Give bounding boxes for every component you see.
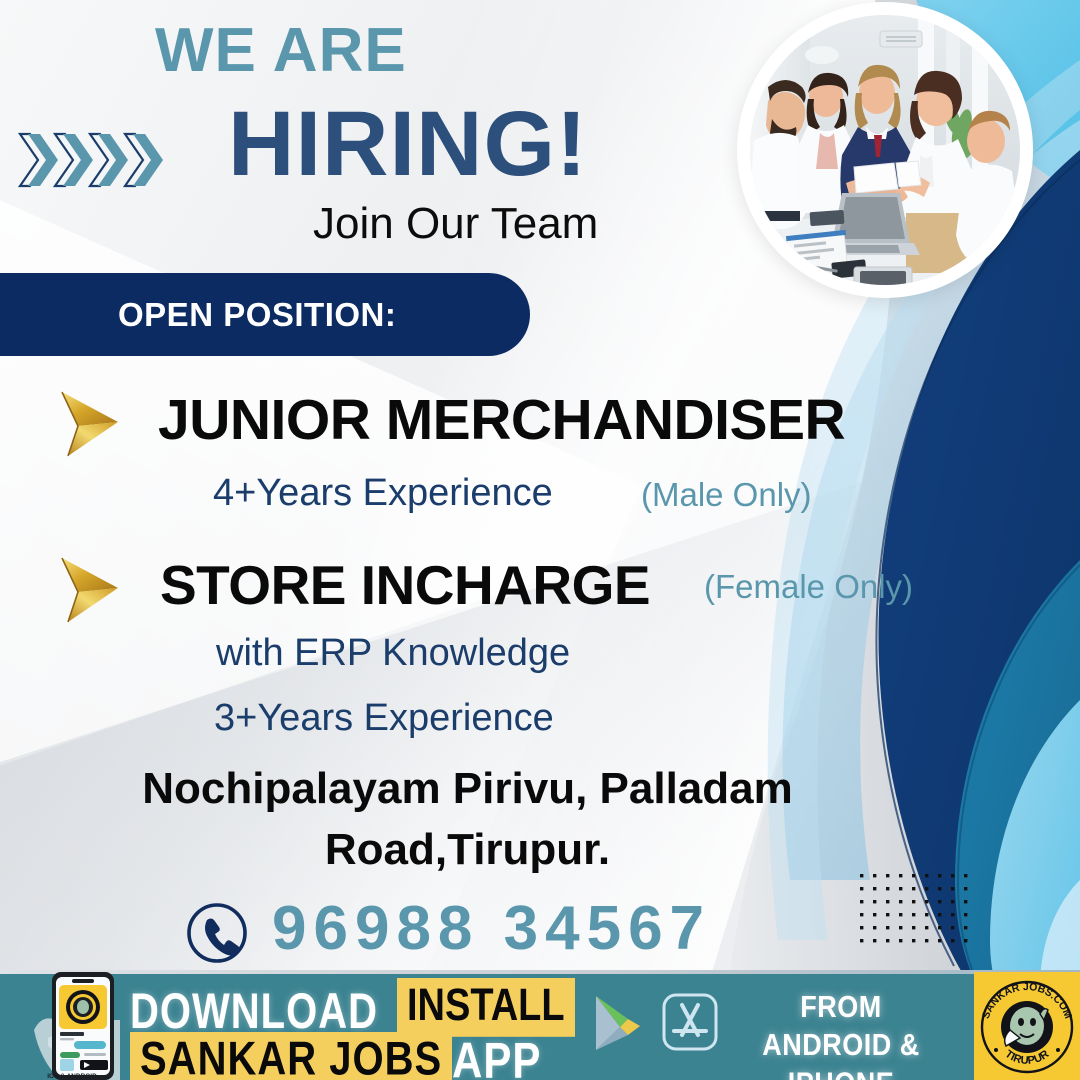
chevron-right-icon <box>18 128 170 192</box>
apple-app-store-icon[interactable] <box>660 991 720 1053</box>
app-label: APP <box>452 1032 541 1080</box>
sankar-jobs-logo-icon: SANKAR JOBS.COM TIRUPUR <box>974 972 1080 1080</box>
brand-label: SANKAR JOBS <box>130 1032 452 1080</box>
hiring-heading: HIRING! <box>228 98 588 190</box>
svg-text:IOS & ANDROID: IOS & ANDROID <box>47 1073 97 1080</box>
job-experience-1: 4+Years Experience <box>213 474 553 512</box>
install-label: INSTALL <box>397 978 575 1037</box>
hiring-poster: WE ARE HIRING! Join Our Team <box>0 0 1080 1080</box>
address-line-2: Road,Tirupur. <box>0 824 935 876</box>
phone-number: 96988 34567 <box>272 893 711 964</box>
platform-label: FROM ANDROID & IPHONE <box>735 988 947 1080</box>
open-position-banner: OPEN POSITION: <box>0 273 530 356</box>
we-are-heading: WE ARE <box>155 20 407 82</box>
team-handshake-photo <box>750 15 1020 285</box>
job-title-1: JUNIOR MERCHANDISER <box>158 392 845 449</box>
gold-arrow-bullet-icon <box>48 382 134 468</box>
job-requirement-2: with ERP Knowledge <box>216 634 570 672</box>
dot-grid-pattern <box>858 872 978 954</box>
hand-holding-phone-icon: IOS & ANDROID <box>30 968 140 1080</box>
phone-circle-icon[interactable] <box>184 900 250 966</box>
gold-arrow-bullet-icon <box>48 548 134 634</box>
job-experience-2: 3+Years Experience <box>214 699 554 737</box>
job-note-2: (Female Only) <box>704 570 913 603</box>
google-play-icon[interactable] <box>588 992 644 1054</box>
open-position-label: OPEN POSITION: <box>118 296 396 334</box>
address-line-1: Nochipalayam Pirivu, Palladam <box>0 763 935 815</box>
team-photo-frame <box>737 2 1033 298</box>
job-note-1: (Male Only) <box>641 478 812 511</box>
job-title-2: STORE INCHARGE <box>160 558 650 613</box>
join-our-team-subheading: Join Our Team <box>313 200 598 248</box>
app-download-banner: IOS & ANDROID DOWNLOAD SANKAR JOBS INSTA… <box>0 974 1080 1080</box>
